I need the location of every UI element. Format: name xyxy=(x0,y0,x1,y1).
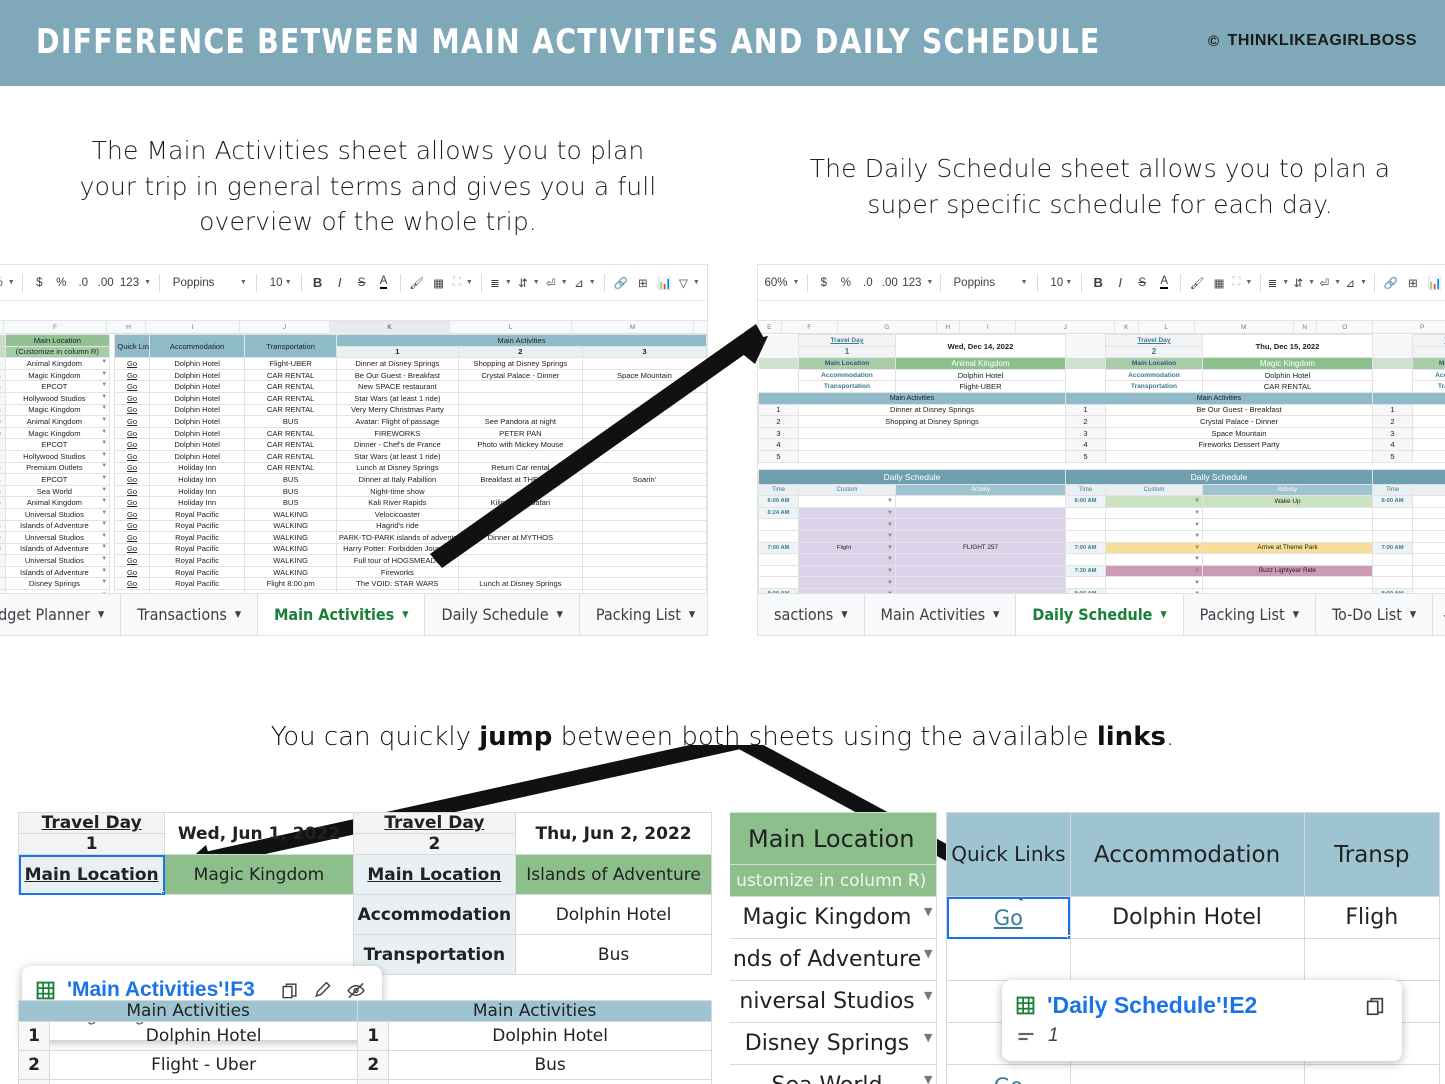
activity-3-cell[interactable] xyxy=(582,543,706,555)
activity-3-cell[interactable]: Soarin' xyxy=(582,474,706,486)
main-location-cell[interactable]: Animal Kingdom▼ xyxy=(5,358,110,370)
accommodation-cell[interactable]: Dolphin Hotel xyxy=(149,450,245,462)
activity-value[interactable] xyxy=(1413,427,1445,439)
chevron-down-icon[interactable]: ▼ xyxy=(1410,610,1416,620)
chevron-down-icon[interactable]: ▼ xyxy=(887,498,893,504)
schedule-custom[interactable]: ▼ xyxy=(1413,542,1445,554)
currency-format-button[interactable]: $ xyxy=(28,270,50,296)
activity-value-right[interactable]: Dolphin Hotel xyxy=(389,1022,712,1051)
schedule-custom[interactable]: ▼ xyxy=(1106,542,1203,554)
selection-handle[interactable] xyxy=(161,891,165,895)
tab-packing-list[interactable]: Packing List▼ xyxy=(1184,594,1316,635)
tab-sactions[interactable]: sactions▼ xyxy=(758,594,865,635)
chevron-down-icon[interactable]: ▼ xyxy=(402,610,408,620)
activity-value[interactable] xyxy=(799,450,1066,462)
accommodation-cell[interactable]: Dolphin Hotel xyxy=(149,369,245,381)
chevron-down-icon[interactable]: ▼ xyxy=(1194,545,1200,551)
accommodation-cell[interactable]: Holiday Inn xyxy=(149,497,245,509)
column-headers[interactable]: D E F H I J K L M xyxy=(0,321,707,334)
chevron-down-icon[interactable]: ▼ xyxy=(101,521,107,527)
quick-link-go[interactable]: Go xyxy=(115,485,150,497)
activity-1-cell[interactable]: New SPACE restaurant xyxy=(336,381,458,393)
activity-3-cell[interactable] xyxy=(582,416,706,428)
accommodation-cell[interactable]: Royal Pacific xyxy=(149,566,245,578)
column-header-K[interactable]: K xyxy=(330,321,450,334)
activity-value[interactable]: Be Our Guest - Breakfast xyxy=(1106,404,1373,416)
activity-2-cell[interactable] xyxy=(458,485,582,497)
main-location-cell[interactable]: Universal Studios▼ xyxy=(5,555,110,567)
accommodation-cell[interactable]: Holiday Inn xyxy=(149,485,245,497)
insert-link-icon[interactable]: 🔗 xyxy=(1380,270,1402,296)
quick-link-go[interactable]: Go xyxy=(115,497,150,509)
quick-link-go[interactable]: Go xyxy=(115,439,150,451)
activity-3-cell[interactable] xyxy=(582,508,706,520)
location-cell-3[interactable]: niversal Studios▼ xyxy=(730,981,937,1023)
activity-1-cell[interactable]: Kali River Rapids xyxy=(336,497,458,509)
merge-cells-icon[interactable]: ⛶▼ xyxy=(450,270,477,296)
activity-1-cell[interactable]: Lunch at Disney Springs xyxy=(336,462,458,474)
currency-format-button[interactable]: $ xyxy=(813,270,835,296)
activity-1-cell[interactable]: Star Wars (at least 1 ride) xyxy=(336,392,458,404)
activity-3-cell[interactable] xyxy=(582,520,706,532)
location-cell-2[interactable]: nds of Adventure▼ xyxy=(730,939,937,981)
activity-2-cell[interactable] xyxy=(458,404,582,416)
schedule-row[interactable]: ▼▼▼▼ xyxy=(759,577,1445,589)
column-header-K[interactable]: K xyxy=(1115,321,1139,334)
table-row[interactable]: e20Magic Kingdom▼GoDolphin HotelCAR RENT… xyxy=(0,427,707,439)
location-cell-1[interactable]: Magic Kingdom▼ xyxy=(730,897,937,939)
transportation-cell[interactable]: CAR RENTAL xyxy=(245,369,336,381)
quick-link-go[interactable]: Go xyxy=(115,369,150,381)
quick-link-go[interactable]: Go xyxy=(115,508,150,520)
activity-row[interactable]: 2Shopping at Disney Springs2Crystal Pala… xyxy=(759,416,1445,428)
activity-1-cell[interactable]: Dinner at Disney Springs xyxy=(336,358,458,370)
zoom-left-activity-rows[interactable]: 1Dolphin Hotel1Dolphin Hotel2Flight - Ub… xyxy=(19,1022,712,1084)
link-reference[interactable]: 'Main Activities'!F3 xyxy=(67,978,255,1002)
chevron-down-icon[interactable]: ▼ xyxy=(993,610,999,620)
column-header-H[interactable]: H xyxy=(112,321,146,334)
activity-3-cell[interactable] xyxy=(582,555,706,567)
main-activities-grid[interactable]: D E F H I J K L M Main Location Quick Li… xyxy=(0,321,707,602)
italic-button[interactable]: I xyxy=(329,270,351,296)
accommodation-cell[interactable]: Royal Pacific xyxy=(149,555,245,567)
table-row[interactable]: u15Magic Kingdom▼GoDolphin HotelCAR RENT… xyxy=(0,369,707,381)
activity-3-cell[interactable] xyxy=(582,392,706,404)
accommodation-cell[interactable]: Dolphin Hotel xyxy=(149,439,245,451)
main-activities-table[interactable]: Main Location Quick Links Accommodation … xyxy=(0,334,707,602)
activity-2-cell[interactable]: Shopping at Disney Springs xyxy=(458,358,582,370)
activity-2-cell[interactable] xyxy=(458,381,582,393)
schedule-row[interactable]: 7:00 AMFlight▼FLIGHT 2577:00 AM▼Arrive a… xyxy=(759,542,1445,554)
activity-2-cell[interactable]: See Pandora at night xyxy=(458,416,582,428)
main-location-cell[interactable]: Islands of Adventure▼ xyxy=(5,566,110,578)
table-row[interactable]: ed28Islands of Adventure▼GoRoyal Pacific… xyxy=(0,520,707,532)
tab-main-activities[interactable]: Main Activities▼ xyxy=(258,594,425,635)
activity-1-cell[interactable]: Night-time show xyxy=(336,485,458,497)
table-row[interactable]: ri30Islands of Adventure▼GoRoyal Pacific… xyxy=(0,543,707,555)
activity-value[interactable]: Dinner at Disney Springs xyxy=(799,404,1066,416)
chevron-down-icon[interactable]: ▼ xyxy=(101,579,107,585)
formula-bar[interactable] xyxy=(0,301,707,321)
horizontal-align-icon[interactable]: ≣▼ xyxy=(1265,270,1291,296)
column-header-P[interactable]: P xyxy=(1373,321,1445,334)
insert-chart-icon[interactable]: 📊 xyxy=(654,270,676,296)
table-row[interactable]: un18Magic Kingdom▼GoDolphin HotelCAR REN… xyxy=(0,404,707,416)
activity-value[interactable]: Crystal Palace - Dinner xyxy=(1106,416,1373,428)
link-reference[interactable]: 'Daily Schedule'!E2 xyxy=(1047,992,1257,1019)
activity-value[interactable] xyxy=(1106,450,1373,462)
activity-2-cell[interactable] xyxy=(458,508,582,520)
activity-value[interactable]: New SPACE restaurant xyxy=(1413,404,1445,416)
accommodation-cell[interactable]: Holiday Inn xyxy=(149,462,245,474)
location-cell-4[interactable]: Disney Springs▼ xyxy=(730,1023,937,1065)
quick-link-go[interactable]: Go xyxy=(115,555,150,567)
table-row[interactable]: ri16EPCOT▼GoDolphin HotelCAR RENTALNew S… xyxy=(0,381,707,393)
schedule-custom[interactable]: ▼ xyxy=(799,554,896,566)
table-row[interactable]: e27Universal Studios▼GoRoyal PacificWALK… xyxy=(0,508,707,520)
more-formats-button[interactable]: 123▼ xyxy=(901,270,935,296)
increase-decimal-button[interactable]: .00 xyxy=(94,270,117,296)
schedule-custom[interactable]: ▼ xyxy=(799,565,896,577)
schedule-activity[interactable] xyxy=(896,577,1066,589)
accommodation-cell[interactable]: Dolphin Hotel xyxy=(149,392,245,404)
italic-button[interactable]: I xyxy=(1109,270,1131,296)
activity-3-cell[interactable] xyxy=(582,404,706,416)
schedule-row[interactable]: ▼7:30 AM▼Buzz Lightyear Ride▼▼ xyxy=(759,565,1445,577)
chevron-down-icon[interactable]: ▼ xyxy=(1194,498,1200,504)
tab-to-do-list[interactable]: To-Do List▼ xyxy=(1316,594,1433,635)
activity-value[interactable] xyxy=(799,439,1066,451)
quick-link-go[interactable]: Go xyxy=(115,392,150,404)
activity-1-cell[interactable]: Avatar: Flight of passage xyxy=(336,416,458,428)
schedule-custom[interactable]: ▼ xyxy=(1413,577,1445,589)
chevron-down-icon[interactable]: ▼ xyxy=(101,371,107,377)
schedule-custom[interactable]: ▼ xyxy=(1413,496,1445,508)
activity-3-cell[interactable] xyxy=(582,462,706,474)
chevron-down-icon[interactable]: ▼ xyxy=(1194,556,1200,562)
activity-1-cell[interactable]: Harry Potter: Forbidden Journey xyxy=(336,543,458,555)
borders-icon[interactable]: ▦ xyxy=(1208,270,1230,296)
text-wrap-icon[interactable]: ⏎▼ xyxy=(1317,270,1343,296)
main-location-cell[interactable]: Animal Kingdom▼ xyxy=(5,416,110,428)
daily-schedule-top-table[interactable]: Travel DayWed, Dec 14, 2022Travel DayThu… xyxy=(758,334,1445,463)
table-row[interactable]: ed21EPCOT▼GoDolphin HotelCAR RENTALDinne… xyxy=(0,439,707,451)
schedule-custom[interactable]: ▼ xyxy=(1106,530,1203,542)
insert-comment-icon[interactable]: ⊞ xyxy=(632,270,654,296)
fill-color-icon[interactable]: 🖌 xyxy=(1186,270,1208,296)
copy-icon[interactable] xyxy=(280,981,299,1000)
accommodation-cell[interactable]: Dolphin Hotel xyxy=(149,416,245,428)
table-row[interactable]: on19Animal Kingdom▼GoDolphin HotelBUSAva… xyxy=(0,416,707,428)
font-size-select[interactable]: 10▼ xyxy=(1042,270,1076,296)
text-color-button[interactable]: A xyxy=(1153,270,1175,296)
schedule-custom[interactable]: ▼ xyxy=(799,519,896,531)
schedule-custom[interactable]: ▼ xyxy=(799,577,896,589)
chevron-down-icon[interactable]: ▼ xyxy=(887,580,893,586)
chevron-down-icon[interactable]: ▼ xyxy=(1194,580,1200,586)
schedule-custom[interactable]: ▼ xyxy=(799,496,896,508)
list-item[interactable]: 1Dolphin Hotel1Dolphin Hotel xyxy=(19,1022,712,1051)
quick-link-go[interactable]: Go xyxy=(115,532,150,544)
main-activities-rows[interactable]: ed14Animal Kingdom▼GoDolphin HotelFlight… xyxy=(0,358,707,601)
activity-2-cell[interactable] xyxy=(458,520,582,532)
activity-3-cell[interactable]: Space Mountain xyxy=(582,369,706,381)
column-header-I[interactable]: I xyxy=(960,321,1016,334)
selection-handle[interactable] xyxy=(1067,935,1071,939)
chevron-down-icon[interactable]: ▼ xyxy=(924,989,932,1002)
schedule-activity[interactable]: Buzz Lightyear Ride xyxy=(1203,565,1373,577)
activity-value-left[interactable]: Check In xyxy=(49,1080,357,1084)
chevron-down-icon[interactable]: ▼ xyxy=(1160,610,1166,620)
quick-link-go[interactable]: Go xyxy=(115,474,150,486)
column-header-I[interactable]: I xyxy=(146,321,240,334)
main-location-cell[interactable]: Disney Springs▼ xyxy=(5,578,110,590)
tab-packing-list[interactable]: Packing List▼ xyxy=(580,594,708,635)
chevron-down-icon[interactable]: ▼ xyxy=(101,440,107,446)
main-location-cell[interactable]: EPCOT▼ xyxy=(5,474,110,486)
tab-udget-planner[interactable]: udget Planner▼ xyxy=(0,594,121,635)
activity-value[interactable] xyxy=(1413,450,1445,462)
chevron-down-icon[interactable]: ▼ xyxy=(101,463,107,469)
strikethrough-button[interactable]: S xyxy=(1131,270,1153,296)
transportation-cell[interactable]: WALKING xyxy=(245,520,336,532)
quick-link-go-5[interactable]: Go xyxy=(947,1065,1070,1084)
tab-transactions[interactable]: Transactions▼ xyxy=(121,594,258,635)
chevron-down-icon[interactable]: ▼ xyxy=(235,610,241,620)
chevron-down-icon[interactable]: ▼ xyxy=(101,487,107,493)
schedule-custom[interactable]: ▼ xyxy=(1413,565,1445,577)
quick-link-go[interactable]: Go xyxy=(115,520,150,532)
activity-1-cell[interactable]: The VOID: STAR WARS xyxy=(336,578,458,590)
chevron-down-icon[interactable]: ▼ xyxy=(1194,522,1200,528)
accommodation-cell[interactable]: Royal Pacific xyxy=(149,543,245,555)
transportation-cell[interactable]: CAR RENTAL xyxy=(245,392,336,404)
percent-format-button[interactable]: % xyxy=(50,270,72,296)
sheet-tabs-left[interactable]: udget Planner▼Transactions▼Main Activiti… xyxy=(0,593,707,635)
activity-2-cell[interactable]: Crystal Palace - Dinner xyxy=(458,369,582,381)
chevron-down-icon[interactable]: ▼ xyxy=(98,610,104,620)
schedule-row[interactable]: ▼▼▼▼ xyxy=(759,530,1445,542)
activity-3-cell[interactable] xyxy=(582,497,706,509)
activity-1-cell[interactable]: Be Our Guest - Breakfast xyxy=(336,369,458,381)
main-location-cell[interactable]: Magic Kingdom▼ xyxy=(5,404,110,416)
main-location-cell[interactable]: Universal Studios▼ xyxy=(5,532,110,544)
transportation-cell[interactable]: WALKING xyxy=(245,566,336,578)
borders-icon[interactable]: ▦ xyxy=(428,270,450,296)
data-row-1[interactable]: Magic Kingdom▼ Go Dolphin Hotel Fligh xyxy=(730,897,1440,939)
schedule-activity[interactable] xyxy=(1203,507,1373,519)
zoom-left-panel[interactable]: Travel Day Wed, Jun 1, 2022 Travel Day T… xyxy=(0,806,712,1084)
accommodation-cell[interactable]: Royal Pacific xyxy=(149,508,245,520)
quick-link-go[interactable]: Go xyxy=(115,566,150,578)
schedule-custom[interactable]: ▼ xyxy=(1413,530,1445,542)
chevron-down-icon[interactable]: ▼ xyxy=(101,498,107,504)
transportation-cell[interactable]: CAR RENTAL xyxy=(245,381,336,393)
activity-value[interactable]: Space Mountain xyxy=(1106,427,1373,439)
transportation-cell[interactable]: BUS xyxy=(245,485,336,497)
chevron-down-icon[interactable]: ▼ xyxy=(101,533,107,539)
column-header-M[interactable]: M xyxy=(1195,321,1294,334)
activity-2-cell[interactable]: Photo with Mickey Mouse xyxy=(458,439,582,451)
more-formats-button[interactable]: 123▼ xyxy=(117,270,154,296)
table-row[interactable]: un1Islands of Adventure▼GoRoyal PacificW… xyxy=(0,566,707,578)
quick-link-go[interactable]: Go xyxy=(115,404,150,416)
accommodation-cell[interactable]: Dolphin Hotel xyxy=(149,427,245,439)
accommodation-cell[interactable]: Royal Pacific xyxy=(149,520,245,532)
quick-link-go[interactable]: Go xyxy=(115,578,150,590)
zoom-control[interactable]: 60%▼ xyxy=(762,270,802,296)
schedule-activity[interactable] xyxy=(896,519,1066,531)
activity-2-cell[interactable] xyxy=(458,543,582,555)
font-size-select[interactable]: 10▼ xyxy=(262,270,296,296)
activity-3-cell[interactable] xyxy=(582,532,706,544)
chevron-down-icon[interactable]: ▼ xyxy=(924,1073,932,1084)
chevron-down-icon[interactable]: ▼ xyxy=(101,568,107,574)
decrease-decimal-button[interactable]: .0 xyxy=(72,270,94,296)
column-header-E[interactable]: E xyxy=(758,321,782,334)
schedule-activity[interactable]: FLIGHT 257 xyxy=(896,542,1066,554)
schedule-row[interactable]: 6:00 AM▼6:00 AM▼Wake Up6:00 AM▼6:00 AM▼ xyxy=(759,496,1445,508)
chevron-down-icon[interactable]: ▼ xyxy=(101,475,107,481)
activity-3-cell[interactable] xyxy=(582,381,706,393)
chevron-down-icon[interactable]: ▼ xyxy=(101,510,107,516)
schedule-activity[interactable] xyxy=(896,554,1066,566)
column-header-L[interactable]: L xyxy=(450,321,572,334)
activity-row[interactable]: 1Dinner at Disney Springs1Be Our Guest -… xyxy=(759,404,1445,416)
chevron-down-icon[interactable]: ▼ xyxy=(101,544,107,550)
schedule-custom[interactable]: ▼ xyxy=(1106,519,1203,531)
activity-2-cell[interactable]: Kilimanjaro Safari xyxy=(458,497,582,509)
link-card-actions[interactable] xyxy=(280,981,366,1000)
activity-1-cell[interactable]: Very Merry Christmas Party xyxy=(336,404,458,416)
quick-link-go-selected[interactable]: Go xyxy=(947,897,1070,939)
daily-schedule-grid[interactable]: EFGHIJKLMNOP Travel DayWed, Dec 14, 2022… xyxy=(758,321,1445,635)
main-location-cell[interactable]: EPCOT▼ xyxy=(5,439,110,451)
chevron-down-icon[interactable]: ▼ xyxy=(101,382,107,388)
column-header-L[interactable]: L xyxy=(1139,321,1195,334)
text-rotation-icon[interactable]: ⊿▼ xyxy=(1343,270,1369,296)
main-location-cell[interactable]: Hollywood Studios▼ xyxy=(5,450,110,462)
activity-2-cell[interactable]: Lunch at Disney Springs xyxy=(458,578,582,590)
main-location-cell[interactable]: EPCOT▼ xyxy=(5,381,110,393)
text-wrap-icon[interactable]: ⏎▼ xyxy=(543,270,571,296)
activity-3-cell[interactable] xyxy=(582,578,706,590)
remove-link-icon[interactable] xyxy=(346,981,366,1000)
column-header-G[interactable]: G xyxy=(838,321,937,334)
activity-value-right[interactable]: Bus xyxy=(389,1051,712,1080)
text-rotation-icon[interactable]: ⊿▼ xyxy=(571,270,599,296)
zoom-left-header-table[interactable]: Travel Day Wed, Jun 1, 2022 Travel Day T… xyxy=(18,812,712,975)
zoom-control[interactable]: 67%▼ xyxy=(0,270,17,296)
schedule-activity[interactable] xyxy=(896,496,1066,508)
transportation-cell[interactable]: WALKING xyxy=(245,543,336,555)
location-cell-5[interactable]: Sea World▼ xyxy=(730,1065,937,1084)
main-location-cell[interactable]: Sea World▼ xyxy=(5,485,110,497)
activity-3-cell[interactable] xyxy=(582,450,706,462)
activity-row[interactable]: 33Space Mountain33 xyxy=(759,427,1445,439)
activity-row[interactable]: 44Fireworks Dessert Party44 xyxy=(759,439,1445,451)
activity-value-right[interactable]: Breakfast at HARD ROCK xyxy=(389,1080,712,1084)
chevron-down-icon[interactable]: ▼ xyxy=(841,610,847,620)
transportation-cell[interactable]: WALKING xyxy=(245,508,336,520)
schedule-custom[interactable]: ▼ xyxy=(1106,554,1203,566)
activity-2-cell[interactable]: PETER PAN xyxy=(458,427,582,439)
table-row[interactable]: at31Universal Studios▼GoRoyal PacificWAL… xyxy=(0,555,707,567)
chevron-down-icon[interactable]: ▼ xyxy=(101,359,107,365)
quick-link-go[interactable]: Go xyxy=(115,358,150,370)
link-preview-card-right[interactable]: 'Daily Schedule'!E2 1 xyxy=(1002,980,1402,1061)
activity-2-cell[interactable] xyxy=(458,450,582,462)
zoom-right-panel[interactable]: Main Location Quick Links Accommodation … xyxy=(730,806,1445,1084)
list-item[interactable]: 3Check In3Breakfast at HARD ROCK xyxy=(19,1080,712,1084)
main-location-cell[interactable]: Magic Kingdom▼ xyxy=(5,369,110,381)
quick-link-go[interactable]: Go xyxy=(115,427,150,439)
transportation-cell[interactable]: CAR RENTAL xyxy=(245,462,336,474)
merge-cells-icon[interactable]: ⛶▼ xyxy=(1230,270,1255,296)
accommodation-cell[interactable]: Dolphin Hotel xyxy=(149,404,245,416)
quick-link-go[interactable]: Go xyxy=(115,462,150,474)
activity-value[interactable] xyxy=(799,427,1066,439)
increase-decimal-button[interactable]: .00 xyxy=(879,270,901,296)
schedule-custom[interactable]: ▼ xyxy=(1413,507,1445,519)
tab-daily-schedule[interactable]: Daily Schedule▼ xyxy=(1016,594,1183,635)
table-row[interactable]: u29Universal Studios▼GoRoyal PacificWALK… xyxy=(0,532,707,544)
tab-scroll-left-icon[interactable]: ◀ xyxy=(1433,594,1445,635)
activity-3-cell[interactable] xyxy=(582,439,706,451)
chevron-down-icon[interactable]: ▼ xyxy=(101,452,107,458)
schedule-custom[interactable]: ▼ xyxy=(799,507,896,519)
schedule-activity[interactable] xyxy=(1203,519,1373,531)
activity-value[interactable] xyxy=(1413,439,1445,451)
table-row[interactable]: u22Hollywood Studios▼GoDolphin HotelCAR … xyxy=(0,450,707,462)
activity-2-cell[interactable]: Breakfast at THE LAND xyxy=(458,474,582,486)
schedule-custom[interactable]: ▼ xyxy=(1413,519,1445,531)
table-row[interactable]: un25Sea World▼GoHoliday InnBUSNight-time… xyxy=(0,485,707,497)
schedule-activity[interactable]: Arrive at Theme Park xyxy=(1203,542,1373,554)
quick-link-go[interactable]: Go xyxy=(115,543,150,555)
activity-1-cell[interactable]: Dinner - Chef's de France xyxy=(336,439,458,451)
text-color-button[interactable]: A xyxy=(373,270,395,296)
sheet-tabs-right[interactable]: sactions▼Main Activities▼Daily Schedule▼… xyxy=(758,593,1445,635)
activity-3-cell[interactable] xyxy=(582,427,706,439)
transportation-cell[interactable]: WALKING xyxy=(245,555,336,567)
table-row[interactable]: on2Disney Springs▼GoRoyal PacificFlight … xyxy=(0,578,707,590)
schedule-row[interactable]: ▼▼▼▼ xyxy=(759,554,1445,566)
selected-main-location-cell[interactable]: Main Location xyxy=(19,855,165,895)
chevron-down-icon[interactable]: ▼ xyxy=(887,510,893,516)
chevron-down-icon[interactable]: ▼ xyxy=(887,568,893,574)
activity-value[interactable] xyxy=(1413,416,1445,428)
activity-1-cell[interactable]: FIREWORKS xyxy=(336,427,458,439)
column-header-H[interactable]: H xyxy=(937,321,961,334)
chevron-down-icon[interactable]: ▼ xyxy=(924,947,932,960)
bold-button[interactable]: B xyxy=(307,270,329,296)
quick-link-cell-2[interactable] xyxy=(947,939,1070,981)
schedule-row[interactable]: ▼▼▼▼ xyxy=(759,519,1445,531)
schedule-custom[interactable]: ▼ xyxy=(799,530,896,542)
main-location-row[interactable]: Main Location Magic Kingdom Main Locatio… xyxy=(19,855,712,895)
bold-button[interactable]: B xyxy=(1087,270,1109,296)
table-row[interactable]: ed14Animal Kingdom▼GoDolphin HotelFlight… xyxy=(0,358,707,370)
copy-icon[interactable] xyxy=(1364,995,1386,1017)
percent-format-button[interactable]: % xyxy=(835,270,857,296)
main-activities-spreadsheet[interactable]: 67%▼ $ % .0 .00 123▼ Poppins▼ 10▼ B I S … xyxy=(0,264,708,636)
activity-1-cell[interactable]: Velocicoaster xyxy=(336,508,458,520)
chevron-down-icon[interactable]: ▼ xyxy=(101,417,107,423)
daily-schedule-spreadsheet[interactable]: 60%▼ $ % .0 .00 123▼ Poppins▼ 10▼ B I S … xyxy=(757,264,1445,636)
list-item[interactable]: 2Flight - Uber2Bus xyxy=(19,1051,712,1080)
activity-1-cell[interactable]: Full tour of HOGSMEADE xyxy=(336,555,458,567)
